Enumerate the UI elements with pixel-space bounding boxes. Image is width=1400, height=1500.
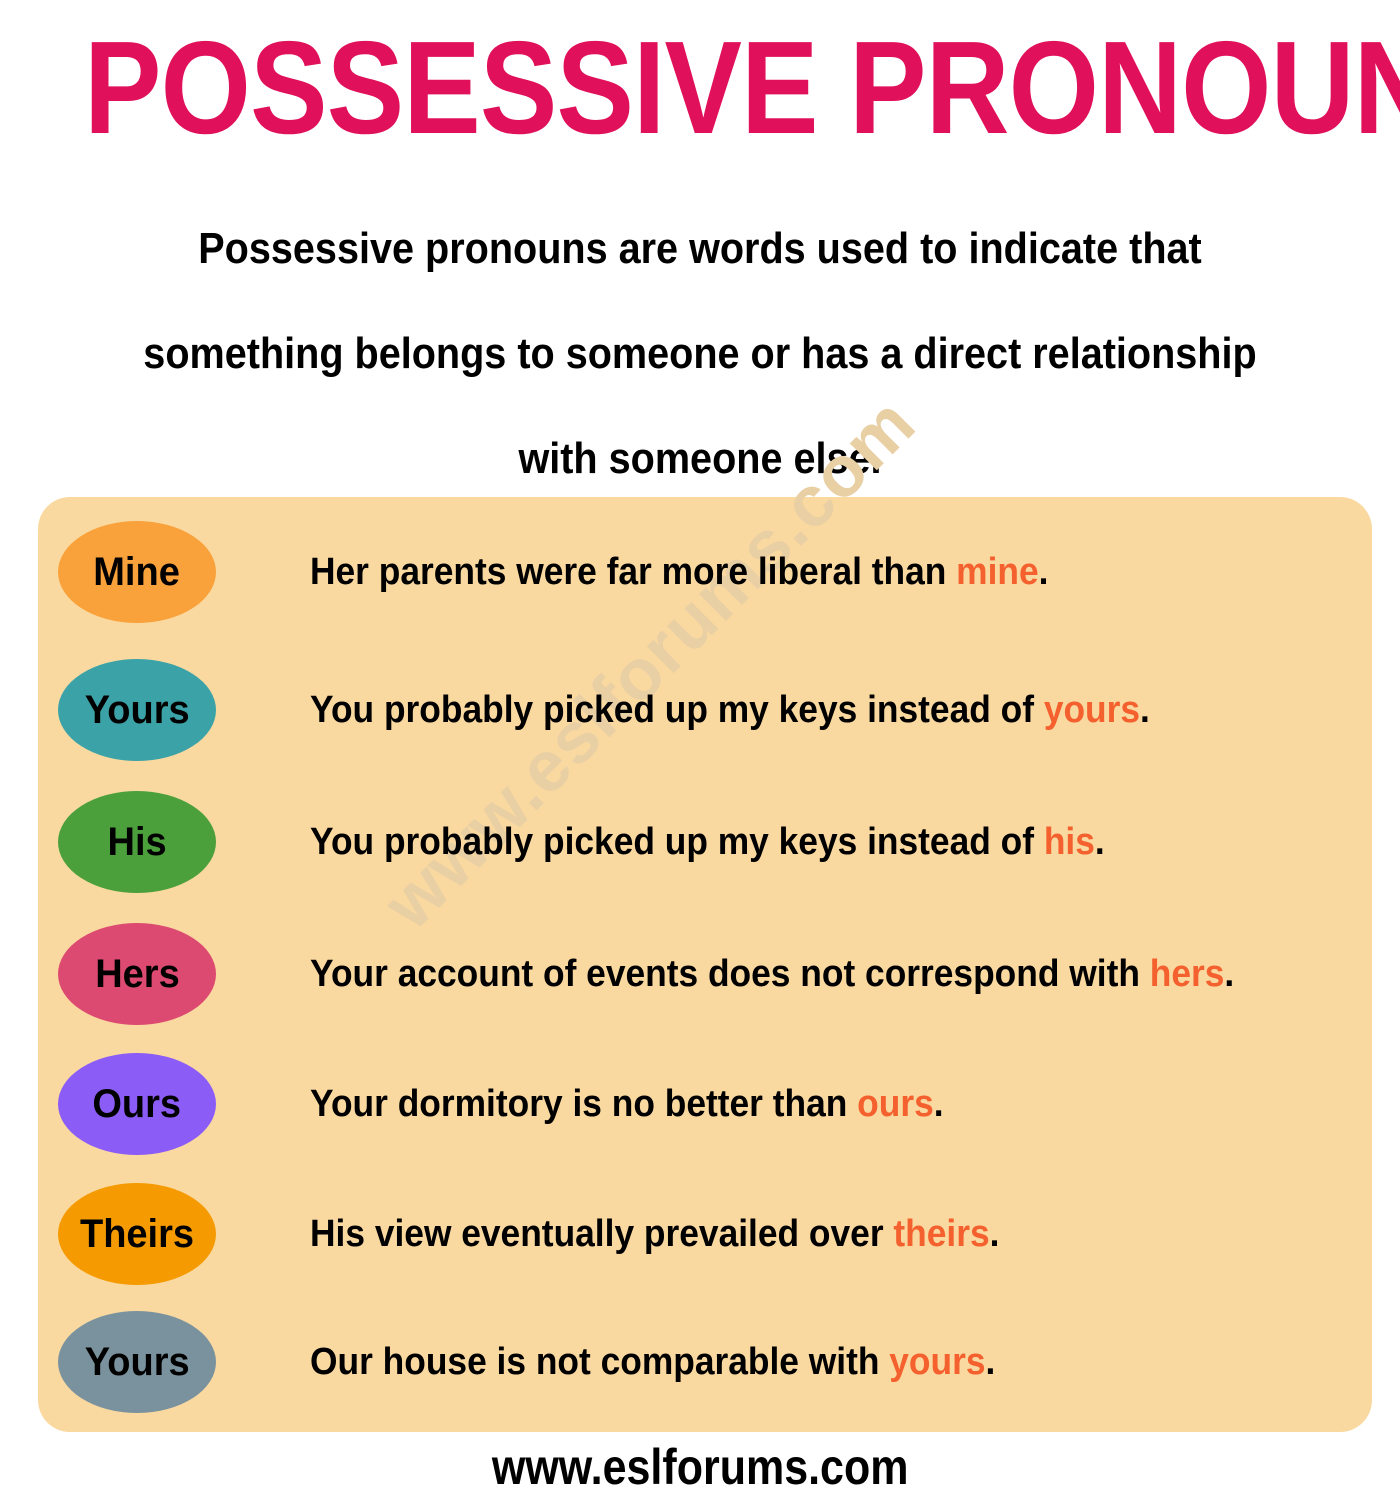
sentence-suffix: . — [1140, 689, 1150, 731]
sentence-highlight: yours — [1044, 689, 1140, 731]
sentence-highlight: hers — [1150, 953, 1225, 995]
definition-text: Possessive pronouns are words used to in… — [60, 196, 1340, 511]
sentence-suffix: . — [986, 1341, 996, 1383]
page-title: POSSESSIVE PRONOUNS — [84, 22, 1316, 154]
pronoun-pill[interactable]: His — [58, 791, 216, 893]
sentence-suffix: . — [1224, 953, 1234, 995]
definition-line-3: with someone else. — [124, 406, 1276, 511]
pronoun-label: Mine — [94, 552, 181, 592]
example-sentence: His view eventually prevailed over their… — [310, 1209, 999, 1259]
example-row: TheirsHis view eventually prevailed over… — [38, 1169, 1372, 1299]
sentence-prefix: Your dormitory is no better than — [310, 1083, 857, 1125]
footer-website: www.eslforums.com — [0, 1438, 1400, 1496]
pronoun-label: Ours — [93, 1084, 182, 1124]
example-row: HisYou probably picked up my keys instea… — [38, 777, 1372, 907]
example-sentence: You probably picked up my keys instead o… — [310, 685, 1150, 735]
sentence-prefix: Her parents were far more liberal than — [310, 551, 956, 593]
sentence-prefix: Your account of events does not correspo… — [310, 953, 1150, 995]
pronoun-label: His — [107, 822, 166, 862]
pronoun-pill[interactable]: Ours — [58, 1053, 216, 1155]
definition-line-1: Possessive pronouns are words used to in… — [124, 196, 1276, 301]
examples-list: MineHer parents were far more liberal th… — [38, 497, 1372, 1432]
sentence-highlight: mine — [956, 551, 1038, 593]
pronoun-pill[interactable]: Yours — [58, 659, 216, 761]
sentence-prefix: You probably picked up my keys instead o… — [310, 689, 1044, 731]
pronoun-pill[interactable]: Mine — [58, 521, 216, 623]
example-sentence: Her parents were far more liberal than m… — [310, 547, 1048, 597]
sentence-suffix: . — [1095, 821, 1105, 863]
pronoun-pill[interactable]: Theirs — [58, 1183, 216, 1285]
example-row: OursYour dormitory is no better than our… — [38, 1039, 1372, 1169]
pronoun-pill[interactable]: Hers — [58, 923, 216, 1025]
pronoun-label: Yours — [85, 1342, 190, 1382]
example-sentence: You probably picked up my keys instead o… — [310, 817, 1105, 867]
sentence-prefix: Our house is not comparable with — [310, 1341, 889, 1383]
pronoun-label: Theirs — [80, 1214, 194, 1254]
example-row: HersYour account of events does not corr… — [38, 909, 1372, 1039]
definition-line-2: something belongs to someone or has a di… — [124, 301, 1276, 406]
sentence-highlight: yours — [889, 1341, 985, 1383]
sentence-suffix: . — [934, 1083, 944, 1125]
sentence-highlight: ours — [857, 1083, 934, 1125]
example-row: YoursOur house is not comparable with yo… — [38, 1297, 1372, 1427]
pronoun-label: Yours — [85, 690, 190, 730]
example-sentence: Your account of events does not correspo… — [310, 949, 1234, 999]
examples-panel: www.eslforums.com MineHer parents were f… — [38, 497, 1372, 1432]
sentence-suffix: . — [1039, 551, 1049, 593]
pronoun-pill[interactable]: Yours — [58, 1311, 216, 1413]
example-row: YoursYou probably picked up my keys inst… — [38, 645, 1372, 775]
example-row: MineHer parents were far more liberal th… — [38, 507, 1372, 637]
sentence-prefix: His view eventually prevailed over — [310, 1213, 893, 1255]
sentence-highlight: his — [1044, 821, 1095, 863]
sentence-highlight: theirs — [893, 1213, 989, 1255]
example-sentence: Our house is not comparable with yours. — [310, 1337, 995, 1387]
footer-website-label: www.eslforums.com — [492, 1438, 909, 1496]
sentence-prefix: You probably picked up my keys instead o… — [310, 821, 1044, 863]
example-sentence: Your dormitory is no better than ours. — [310, 1079, 944, 1129]
pronoun-label: Hers — [95, 954, 180, 994]
sentence-suffix: . — [990, 1213, 1000, 1255]
